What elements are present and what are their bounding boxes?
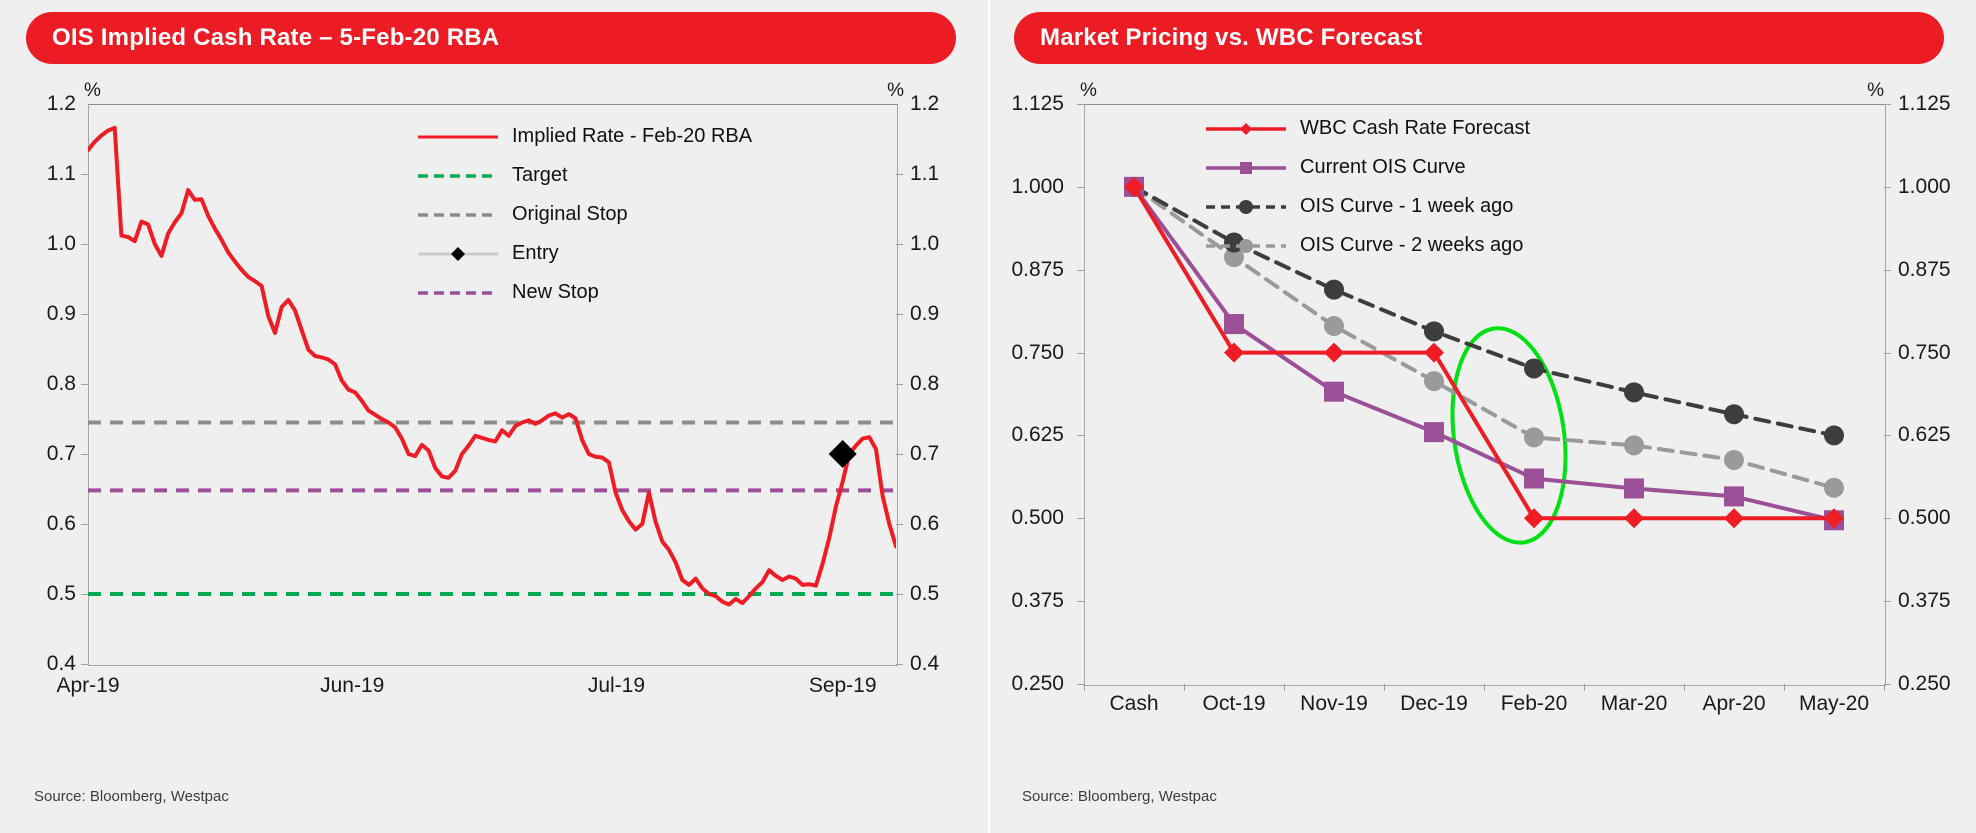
current-ois-line-icon (1204, 159, 1288, 177)
left-chart-tickmark (81, 524, 88, 525)
right-chart-tickmark (1077, 353, 1084, 354)
legend-item-implied-rate: Implied Rate - Feb-20 RBA (416, 122, 752, 151)
left-chart-ytick-right: 0.9 (910, 302, 939, 326)
left-panel-title-banner: OIS Implied Cash Rate – 5-Feb-20 RBA (26, 12, 956, 64)
left-chart-ytick-right: 1.1 (910, 162, 939, 186)
right-chart-x-tickmark (1284, 684, 1285, 691)
left-chart-legend: Implied Rate - Feb-20 RBA Target Origina… (416, 122, 752, 317)
right-chart-xtick: Oct-19 (1202, 692, 1265, 716)
legend-item-wbc-cash-rate-forecast: WBC Cash Rate Forecast (1204, 114, 1530, 143)
left-chart-ytick-left: 1.0 (18, 232, 76, 256)
right-chart-xtick: Cash (1109, 692, 1158, 716)
right-chart-ytick-right: 0.375 (1898, 589, 1951, 613)
legend-label-target: Target (512, 164, 568, 187)
legend-label-ois-2-weeks-ago: OIS Curve - 2 weeks ago (1300, 234, 1523, 257)
legend-label-original-stop: Original Stop (512, 203, 628, 226)
legend-item-entry: Entry (416, 239, 752, 268)
right-chart-ytick-left: 0.625 (992, 423, 1064, 447)
legend-label-current-ois-curve: Current OIS Curve (1300, 156, 1466, 179)
right-panel-title: Market Pricing vs. WBC Forecast (1040, 24, 1422, 52)
legend-item-current-ois-curve: Current OIS Curve (1204, 153, 1530, 182)
left-chart-tickmark (81, 454, 88, 455)
right-chart-tickmark (1884, 435, 1891, 436)
legend-item-ois-2-weeks-ago: OIS Curve - 2 weeks ago (1204, 231, 1530, 260)
right-chart-tickmark (1077, 601, 1084, 602)
right-chart-tickmark (1884, 353, 1891, 354)
left-chart-tickmark (896, 174, 903, 175)
right-chart-legend: WBC Cash Rate Forecast Current OIS Curve (1204, 114, 1530, 270)
left-chart-ytick-right: 1.0 (910, 232, 939, 256)
left-chart-ytick-right: 1.2 (910, 92, 939, 116)
left-axis-unit-left: % (84, 80, 101, 102)
panel-ois-implied-cash-rate: OIS Implied Cash Rate – 5-Feb-20 RBA % %… (0, 0, 988, 833)
right-chart-x-tickmark (1884, 684, 1885, 691)
left-chart-tickmark (81, 664, 88, 665)
left-chart-tickmark (896, 244, 903, 245)
right-chart-ytick-left: 1.000 (992, 175, 1064, 199)
right-chart-tickmark (1884, 270, 1891, 271)
panel-market-pricing-vs-wbc-forecast: Market Pricing vs. WBC Forecast % % 1.12… (988, 0, 1976, 833)
left-chart-xtick: Apr-19 (56, 674, 119, 698)
right-chart-xtick: May-20 (1799, 692, 1869, 716)
right-chart-tickmark (1884, 518, 1891, 519)
right-chart-xtick: Nov-19 (1300, 692, 1368, 716)
legend-item-target: Target (416, 161, 752, 190)
left-chart-ytick-left: 0.4 (18, 652, 76, 676)
left-chart-xtick: Jun-19 (320, 674, 384, 698)
right-chart-tickmark (1077, 187, 1084, 188)
right-chart-tickmark (1077, 684, 1084, 685)
left-chart-tickmark (896, 594, 903, 595)
target-line-icon (416, 167, 500, 185)
right-panel-title-banner: Market Pricing vs. WBC Forecast (1014, 12, 1944, 64)
legend-item-new-stop: New Stop (416, 278, 752, 307)
implied-rate-line-icon (416, 128, 500, 146)
left-chart-tickmark (81, 174, 88, 175)
right-chart-x-tickmark (1084, 684, 1085, 691)
left-chart-ytick-right: 0.4 (910, 652, 939, 676)
right-chart-tickmark (1077, 104, 1084, 105)
wbc-forecast-line-icon (1204, 120, 1288, 138)
left-chart-tickmark (896, 384, 903, 385)
right-chart-tickmark (1077, 435, 1084, 436)
left-chart-tickmark (896, 524, 903, 525)
right-chart-tickmark (1884, 187, 1891, 188)
left-chart-ytick-left: 1.1 (18, 162, 76, 186)
right-axis-unit-left: % (1080, 80, 1097, 102)
legend-label-ois-1-week-ago: OIS Curve - 1 week ago (1300, 195, 1513, 218)
left-chart-ytick-right: 0.7 (910, 442, 939, 466)
entry-marker-icon (416, 245, 500, 263)
right-chart-x-tickmark (1684, 684, 1685, 691)
right-chart-tickmark (1884, 601, 1891, 602)
left-chart-source: Source: Bloomberg, Westpac (34, 788, 229, 805)
legend-label-wbc-cash-rate-forecast: WBC Cash Rate Forecast (1300, 117, 1530, 140)
left-chart-tickmark (81, 244, 88, 245)
legend-label-new-stop: New Stop (512, 281, 599, 304)
left-chart-ytick-right: 0.8 (910, 372, 939, 396)
right-chart-ytick-right: 1.000 (1898, 175, 1951, 199)
right-chart-tickmark (1077, 270, 1084, 271)
right-chart-ytick-right: 0.250 (1898, 672, 1951, 696)
right-chart-ytick-left: 0.750 (992, 341, 1064, 365)
original-stop-line-icon (416, 206, 500, 224)
left-chart-ytick-left: 0.5 (18, 582, 76, 606)
left-chart-ytick-left: 0.6 (18, 512, 76, 536)
right-chart-ytick-right: 0.625 (1898, 423, 1951, 447)
right-chart-ytick-right: 0.500 (1898, 506, 1951, 530)
right-chart-tickmark (1884, 104, 1891, 105)
left-panel-title: OIS Implied Cash Rate – 5-Feb-20 RBA (52, 24, 499, 52)
right-chart-ytick-left: 0.500 (992, 506, 1064, 530)
slide-canvas: OIS Implied Cash Rate – 5-Feb-20 RBA % %… (0, 0, 1976, 833)
right-chart-xtick: Apr-20 (1702, 692, 1765, 716)
left-chart-ytick-right: 0.5 (910, 582, 939, 606)
left-chart-ytick-left: 0.7 (18, 442, 76, 466)
right-chart-x-tickmark (1384, 684, 1385, 691)
left-chart-tickmark (81, 314, 88, 315)
right-chart-xtick: Feb-20 (1501, 692, 1568, 716)
right-chart-ytick-right: 0.750 (1898, 341, 1951, 365)
legend-item-original-stop: Original Stop (416, 200, 752, 229)
ois-2-weeks-line-icon (1204, 237, 1288, 255)
right-chart-ytick-left: 0.375 (992, 589, 1064, 613)
right-chart-x-tickmark (1784, 684, 1785, 691)
left-chart-tickmark (896, 664, 903, 665)
ois-1-week-line-icon (1204, 198, 1288, 216)
right-chart-x-tickmark (1484, 684, 1485, 691)
left-chart-ytick-right: 0.6 (910, 512, 939, 536)
legend-label-implied-rate: Implied Rate - Feb-20 RBA (512, 125, 752, 148)
right-axis-unit-right: % (1867, 80, 1884, 102)
left-chart-tickmark (896, 454, 903, 455)
right-chart-x-tickmark (1584, 684, 1585, 691)
left-chart-xtick: Jul-19 (588, 674, 645, 698)
left-axis-unit-right: % (887, 80, 904, 102)
right-chart-ytick-left: 0.875 (992, 258, 1064, 282)
right-chart-source: Source: Bloomberg, Westpac (1022, 788, 1217, 805)
left-chart-ytick-left: 0.9 (18, 302, 76, 326)
right-chart-xtick: Dec-19 (1400, 692, 1468, 716)
right-chart-tickmark (1077, 518, 1084, 519)
right-chart-xtick: Mar-20 (1601, 692, 1668, 716)
left-chart-ytick-left: 1.2 (18, 92, 76, 116)
left-chart-tickmark (81, 594, 88, 595)
legend-item-ois-1-week-ago: OIS Curve - 1 week ago (1204, 192, 1530, 221)
left-chart-tickmark (81, 384, 88, 385)
legend-label-entry: Entry (512, 242, 559, 265)
left-chart-xtick: Sep-19 (809, 674, 877, 698)
left-chart-tickmark (896, 314, 903, 315)
right-chart-ytick-right: 1.125 (1898, 92, 1951, 116)
right-chart-ytick-right: 0.875 (1898, 258, 1951, 282)
right-chart-x-tickmark (1184, 684, 1185, 691)
right-chart-tickmark (1884, 684, 1891, 685)
new-stop-line-icon (416, 284, 500, 302)
left-chart-ytick-left: 0.8 (18, 372, 76, 396)
right-chart-ytick-left: 0.250 (992, 672, 1064, 696)
right-chart-ytick-left: 1.125 (992, 92, 1064, 116)
